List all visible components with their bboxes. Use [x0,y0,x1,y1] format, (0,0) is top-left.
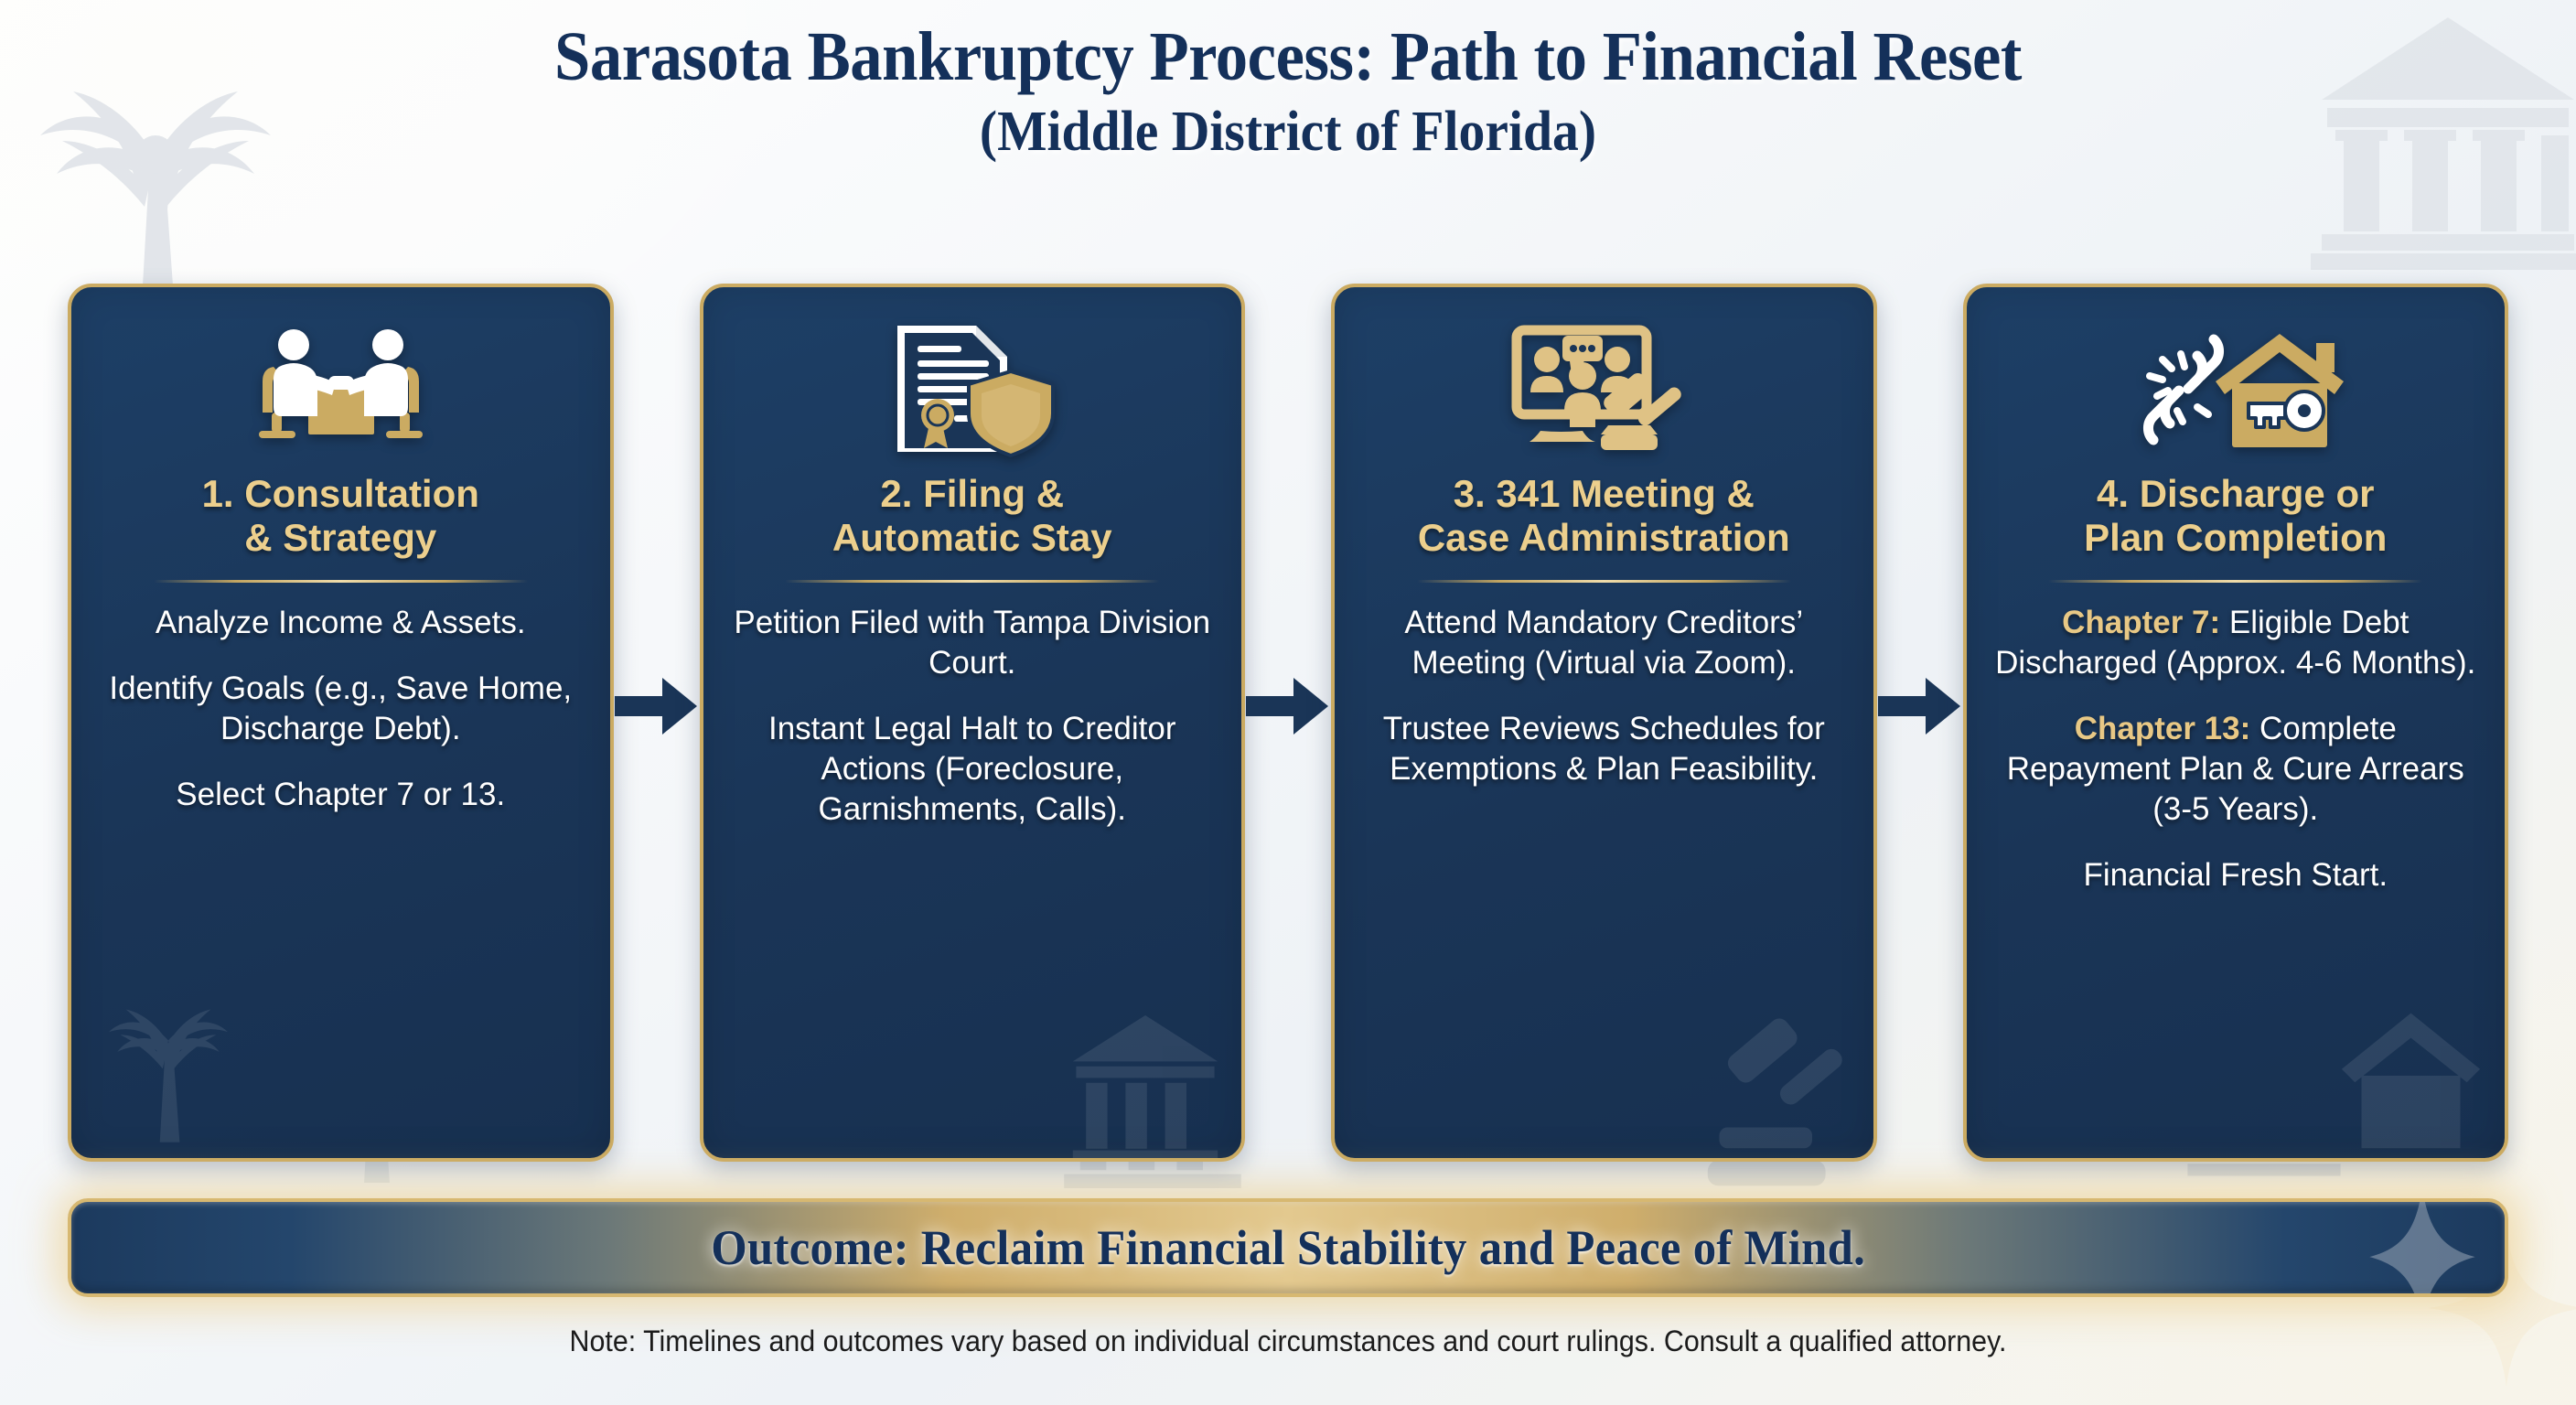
step-2-bullet-1: Petition Filed with Tampa Division Court… [720,603,1226,683]
step-4-bullet-3: Financial Fresh Start. [1983,855,2489,896]
footnote: Note: Timelines and outcomes vary based … [64,1325,2511,1358]
step-4-bullet-2: Chapter 13: Complete Repayment Plan & Cu… [1983,709,2489,830]
step-1-title-line1: 1. Consultation [202,472,479,515]
step-3-title-line2: Case Administration [1418,516,1790,559]
document-shield-icon [881,320,1064,457]
step-2-title-line1: 2. Filing & [880,472,1064,515]
connector-1-2 [614,284,700,1162]
gavel-watermark-card-3 [1697,996,1857,1156]
step-3-body: Attend Mandatory Creditors’ Meeting (Vir… [1351,603,1857,789]
step-1-body: Analyze Income & Assets. Identify Goals … [88,603,594,815]
arrow-right-icon-3 [1878,672,1962,740]
courthouse-watermark-card-2 [1058,999,1232,1162]
video-meeting-gavel-icon [1506,320,1702,457]
step-1-bullet-1: Analyze Income & Assets. [88,603,594,643]
step-2-body: Petition Filed with Tampa Division Court… [720,603,1226,830]
outcome-banner-wrap: Outcome: Reclaim Financial Stability and… [68,1198,2508,1297]
broken-chain-house-key-icon [2126,320,2345,457]
step-3-bullet-2: Trustee Reviews Schedules for Exemptions… [1351,709,1857,789]
house-key-watermark-card-4 [2326,993,2495,1158]
connector-3-4 [1877,284,1963,1162]
step-card-2[interactable]: 2. Filing & Automatic Stay Petition File… [700,284,1246,1162]
arrow-right-icon-1 [615,672,699,740]
header: Sarasota Bankruptcy Process: Path to Fin… [0,22,2576,166]
step-card-3[interactable]: 3. 341 Meeting & Case Administration Att… [1331,284,1877,1162]
step-1-divider [154,580,528,583]
step-1-bullet-2: Identify Goals (e.g., Save Home, Dischar… [88,669,594,749]
step-4-body: Chapter 7: Eligible Debt Discharged (App… [1983,603,2489,896]
sail-decoration [2367,1198,2477,1297]
step-3-bullet-1: Attend Mandatory Creditors’ Meeting (Vir… [1351,603,1857,683]
step-4-divider [2048,580,2422,583]
process-steps-row: 1. Consultation & Strategy Analyze Incom… [68,284,2508,1162]
step-4-title-line2: Plan Completion [2084,516,2387,559]
page-subtitle: (Middle District of Florida) [91,99,2486,166]
outcome-text: Outcome: Reclaim Financial Stability and… [711,1219,1865,1276]
arrow-right-icon-2 [1246,672,1330,740]
step-4-title: 4. Discharge or Plan Completion [2080,472,2390,560]
step-2-title-line2: Automatic Stay [832,516,1112,559]
step-4-bullet-1: Chapter 7: Eligible Debt Discharged (App… [1983,603,2489,683]
step-2-title: 2. Filing & Automatic Stay [829,472,1116,560]
step-2-divider [785,580,1159,583]
palm-watermark-card-1 [86,995,251,1151]
handshake-desk-icon [242,320,439,457]
step-1-title-line2: & Strategy [244,516,436,559]
chapter-13-label: Chapter 13: [2075,711,2251,746]
step-card-4[interactable]: 4. Discharge or Plan Completion Chapter … [1963,284,2509,1162]
step-3-title-line1: 3. 341 Meeting & [1454,472,1755,515]
outcome-banner: Outcome: Reclaim Financial Stability and… [68,1198,2508,1297]
step-3-divider [1417,580,1791,583]
step-card-1[interactable]: 1. Consultation & Strategy Analyze Incom… [68,284,614,1162]
step-4-title-line1: 4. Discharge or [2097,472,2374,515]
page-title: Sarasota Bankruptcy Process: Path to Fin… [91,22,2486,93]
infographic-root: Sarasota Bankruptcy Process: Path to Fin… [0,0,2576,1405]
connector-2-3 [1245,284,1331,1162]
step-2-bullet-2: Instant Legal Halt to Creditor Actions (… [720,709,1226,830]
chapter-7-label: Chapter 7: [2062,605,2220,640]
step-3-title: 3. 341 Meeting & Case Administration [1414,472,1794,560]
step-1-bullet-3: Select Chapter 7 or 13. [88,775,594,815]
step-1-title: 1. Consultation & Strategy [199,472,483,560]
